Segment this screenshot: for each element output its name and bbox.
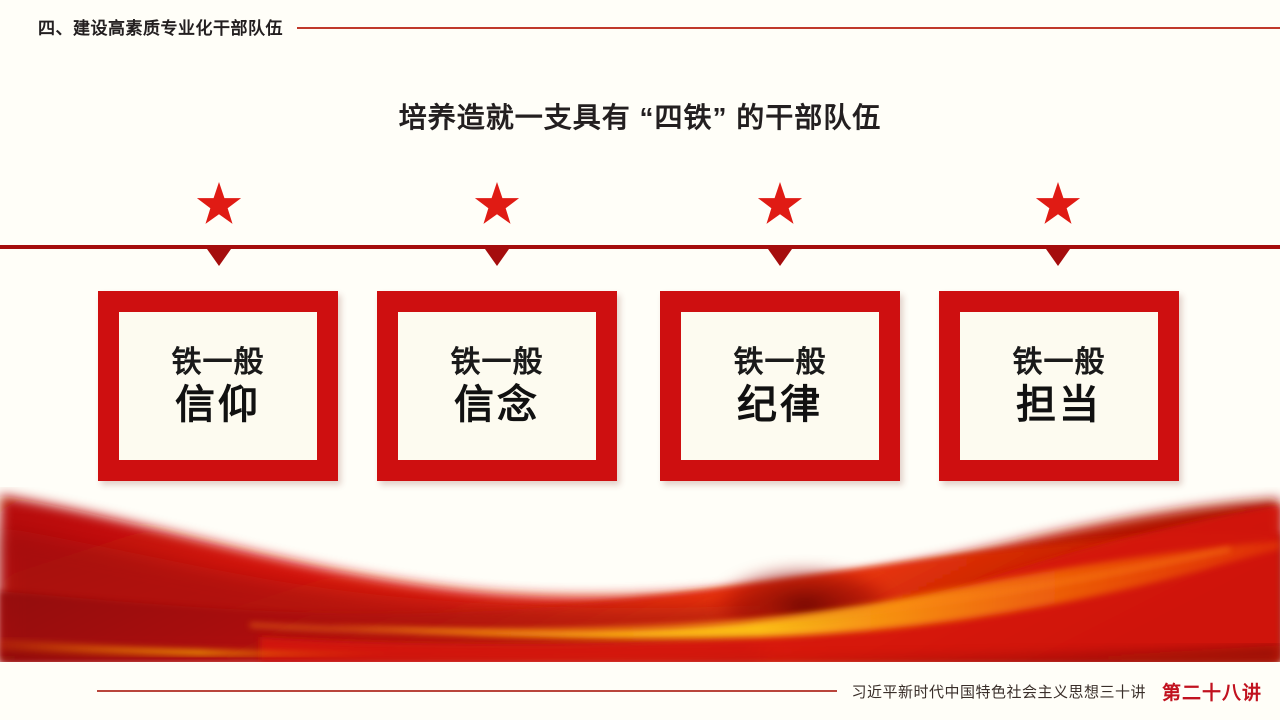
star-icon — [474, 182, 520, 228]
footer-lecture-number: 第二十八讲 — [1162, 678, 1262, 705]
decorative-red-ribbon — [0, 487, 1280, 662]
concept-card-keyword: 纪律 — [737, 383, 823, 427]
concept-card-prefix: 铁一般 — [734, 346, 827, 379]
concept-card[interactable]: 铁一般 信仰 — [98, 291, 338, 481]
concept-card-body: 铁一般 信仰 — [119, 312, 317, 460]
horizontal-divider — [0, 245, 1280, 249]
page-title: 四、建设高素质专业化干部队伍 — [38, 14, 283, 39]
star-icon — [196, 182, 242, 228]
concept-card-keyword: 担当 — [1016, 383, 1102, 427]
main-heading: 培养造就一支具有 “四铁” 的干部队伍 — [0, 96, 1280, 136]
star-icon — [1035, 182, 1081, 228]
slide-footer: 习近平新时代中国特色社会主义思想三十讲 第二十八讲 — [0, 676, 1280, 706]
slide-header: 四、建设高素质专业化干部队伍 — [0, 10, 1280, 42]
ribbon-artwork — [0, 487, 1280, 662]
triangle-down-icon — [768, 249, 792, 266]
concept-card-keyword: 信念 — [454, 383, 540, 427]
concept-card-prefix: 铁一般 — [451, 346, 544, 379]
triangle-down-icon — [207, 249, 231, 266]
concept-card-prefix: 铁一般 — [1013, 346, 1106, 379]
concept-card-body: 铁一般 担当 — [960, 312, 1158, 460]
concept-card-prefix: 铁一般 — [172, 346, 265, 379]
triangle-down-icon — [1046, 249, 1070, 266]
concept-card-body: 铁一般 信念 — [398, 312, 596, 460]
concept-card-body: 铁一般 纪律 — [681, 312, 879, 460]
concept-card-keyword: 信仰 — [175, 383, 261, 427]
concept-card[interactable]: 铁一般 信念 — [377, 291, 617, 481]
footer-series-title: 习近平新时代中国特色社会主义思想三十讲 — [851, 681, 1146, 702]
footer-divider-rule — [97, 690, 837, 692]
header-divider-rule — [297, 27, 1280, 29]
triangle-down-icon — [485, 249, 509, 266]
concept-card[interactable]: 铁一般 担当 — [939, 291, 1179, 481]
concept-card[interactable]: 铁一般 纪律 — [660, 291, 900, 481]
star-icon — [757, 182, 803, 228]
